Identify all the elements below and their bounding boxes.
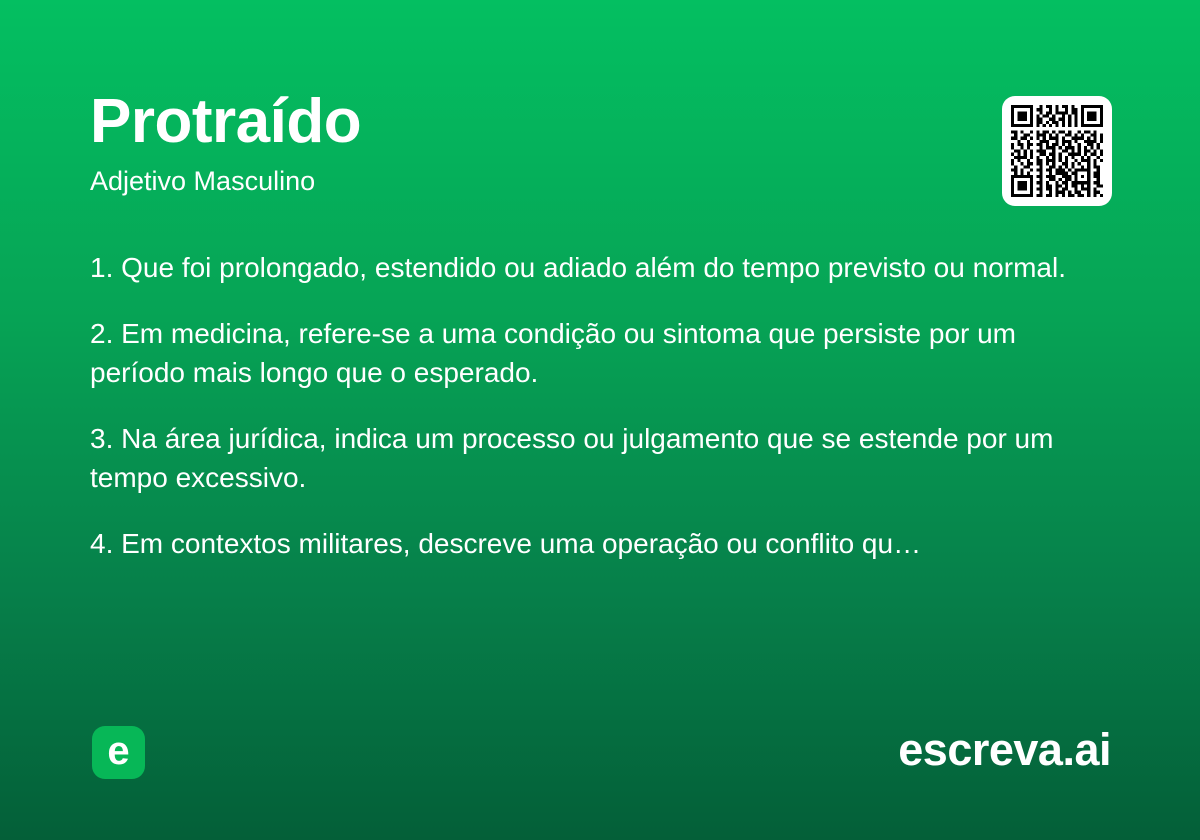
- logo-letter: e: [107, 731, 129, 771]
- qr-code-icon[interactable]: [1002, 96, 1112, 206]
- definition-item: 2. Em medicina, refere-se a uma condição…: [90, 314, 1070, 392]
- escreva-logo-icon[interactable]: e: [92, 726, 145, 779]
- part-of-speech-label: Adjetivo Masculino: [90, 158, 1110, 198]
- definition-item: 1. Que foi prolongado, estendido ou adia…: [90, 248, 1070, 287]
- dictionary-card: Protraído Adjetivo Masculino: [0, 0, 1200, 840]
- definition-item: 3. Na área jurídica, indica um processo …: [90, 419, 1070, 497]
- brand-wordmark: escreva.ai: [898, 722, 1111, 778]
- definition-item: 4. Em contextos militares, descreve uma …: [90, 524, 1070, 563]
- definition-list: 1. Que foi prolongado, estendido ou adia…: [90, 248, 1070, 563]
- card-header: Protraído Adjetivo Masculino: [90, 86, 1110, 198]
- page-title: Protraído: [90, 86, 1110, 158]
